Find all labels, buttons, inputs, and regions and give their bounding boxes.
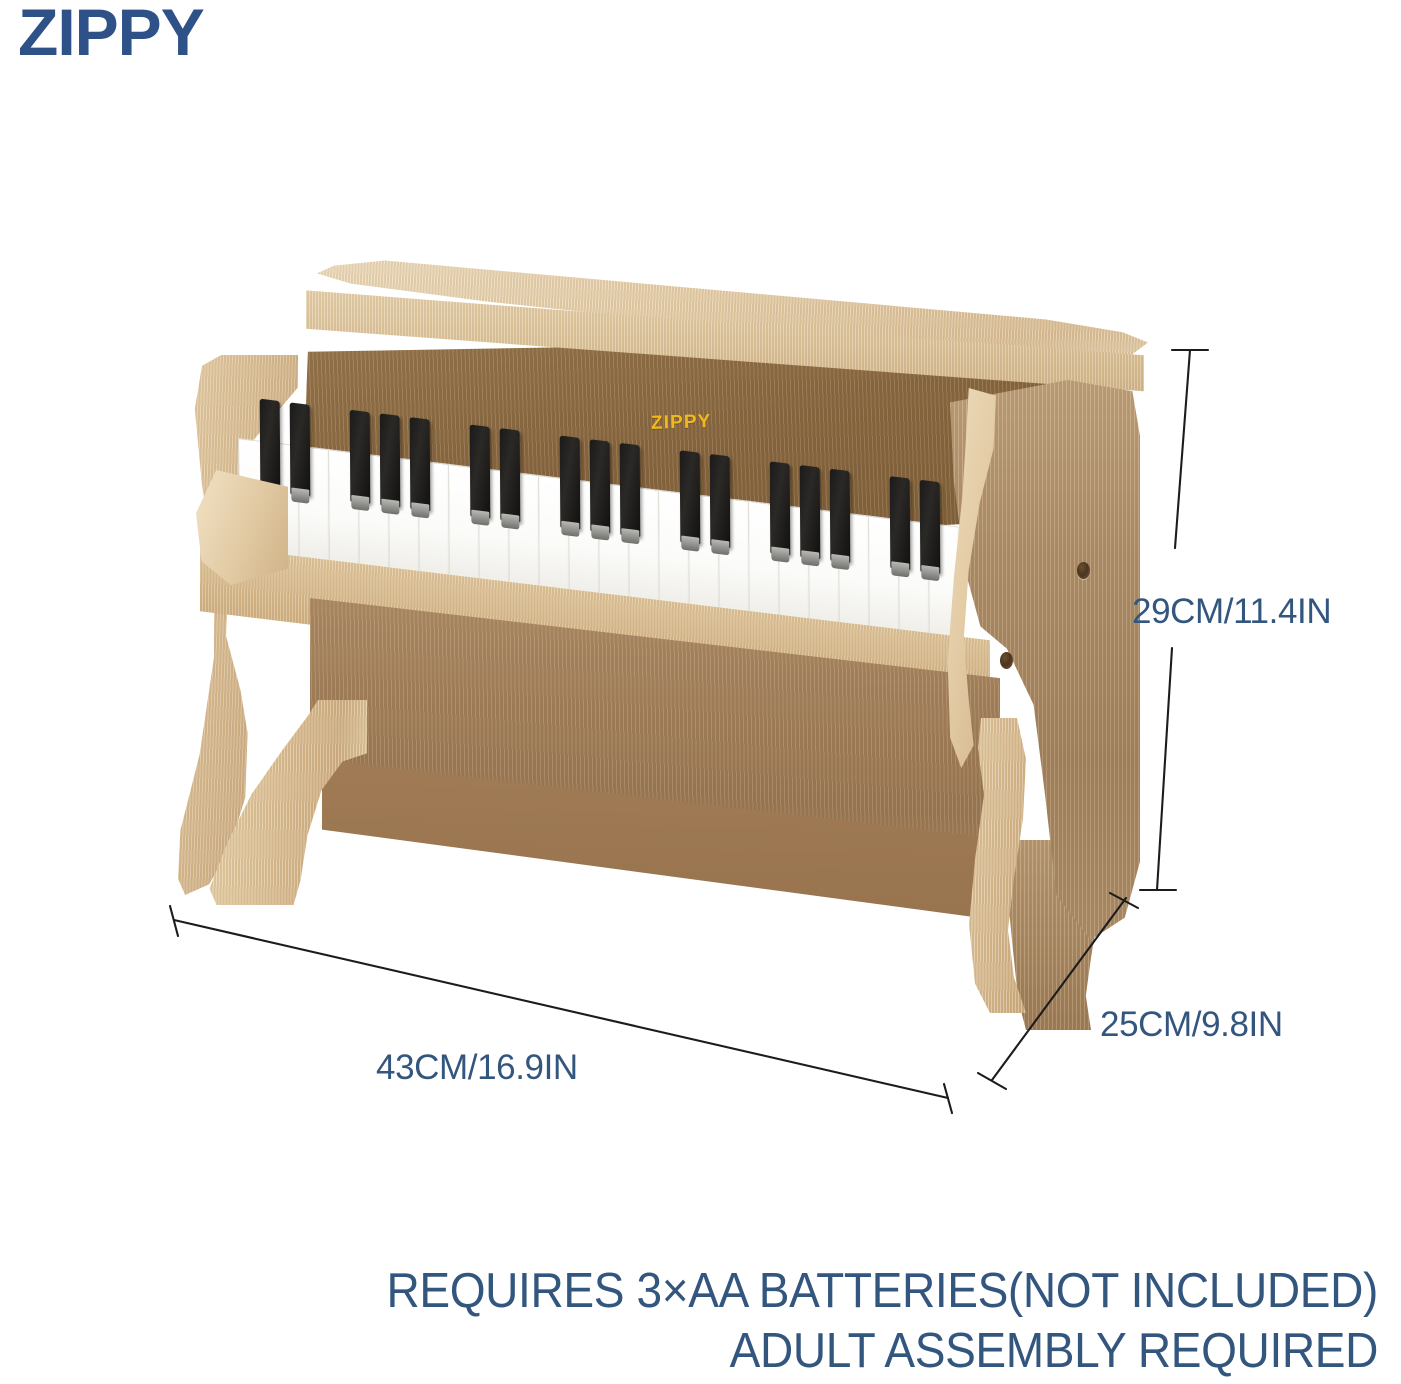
black-key[interactable] <box>380 413 401 508</box>
black-key[interactable] <box>800 465 821 560</box>
black-key[interactable] <box>560 436 581 531</box>
notice-line-batteries: REQUIRES 3×AA BATTERIES(NOT INCLUDED) <box>83 1262 1378 1322</box>
product-image-canvas: ZIPPY ZIPPY <box>0 0 1401 1384</box>
product-illustration: ZIPPY <box>0 0 1401 1180</box>
black-key[interactable] <box>890 476 911 571</box>
black-key[interactable] <box>590 439 611 534</box>
black-key[interactable] <box>620 443 641 538</box>
black-key[interactable] <box>680 450 701 545</box>
black-key[interactable] <box>290 402 311 497</box>
product-notice: REQUIRES 3×AA BATTERIES(NOT INCLUDED) AD… <box>0 1262 1378 1382</box>
black-key[interactable] <box>410 417 431 512</box>
piano-brand-decal: ZIPPY <box>651 411 712 435</box>
black-key[interactable] <box>770 461 791 556</box>
black-key[interactable] <box>350 410 371 505</box>
black-key[interactable] <box>500 428 521 523</box>
dimension-label-width: 43CM/16.9IN <box>376 1048 578 1088</box>
dimension-label-height: 29CM/11.4IN <box>1132 592 1331 632</box>
black-key[interactable] <box>260 399 281 494</box>
dimension-label-depth: 25CM/9.8IN <box>1100 1005 1283 1045</box>
black-key[interactable] <box>920 480 941 575</box>
screw-icon <box>1000 652 1013 669</box>
screw-icon <box>1077 562 1090 579</box>
notice-line-assembly: ADULT ASSEMBLY REQUIRED <box>83 1322 1378 1382</box>
black-key[interactable] <box>710 454 731 549</box>
black-key[interactable] <box>830 469 851 564</box>
black-key[interactable] <box>470 424 491 519</box>
